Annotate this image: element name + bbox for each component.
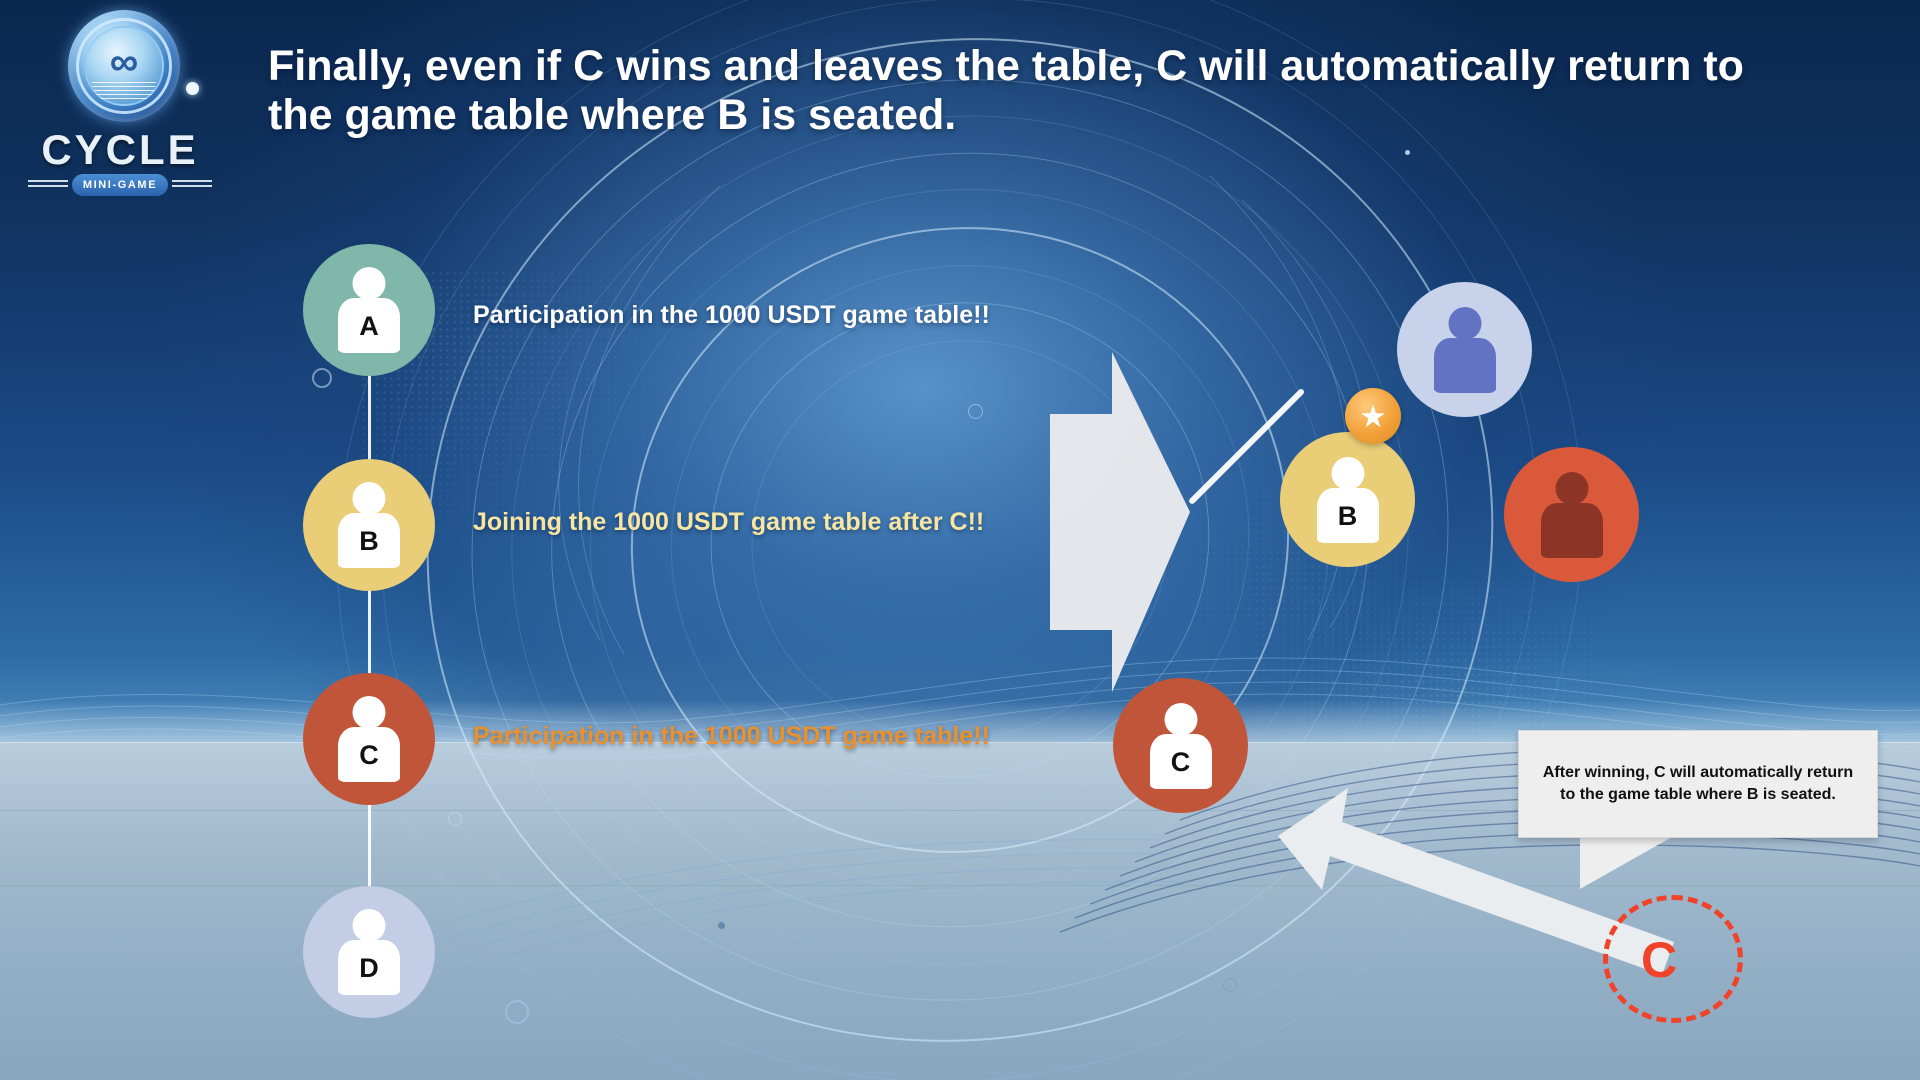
- row-label-b: Joining the 1000 USDT game table after C…: [473, 508, 984, 537]
- decor-ring-3: [505, 1000, 529, 1024]
- winner-star-badge: ★: [1345, 388, 1401, 444]
- player-c-letter: C: [1171, 749, 1191, 776]
- flow-right-arrow: [1050, 352, 1190, 692]
- decor-ring-5: [1223, 978, 1237, 992]
- logo-badge: MINI-GAME: [72, 174, 168, 196]
- seated-player-red[interactable]: [1504, 447, 1639, 582]
- decor-ring-1: [312, 368, 332, 388]
- callout-box: After winning, C will automatically retu…: [1518, 730, 1878, 838]
- dashed-marker-letter: C: [1641, 935, 1677, 985]
- avatar-d-letter: D: [359, 955, 379, 982]
- decor-ring-4: [968, 404, 983, 419]
- avatar-c[interactable]: C: [303, 673, 435, 805]
- callout-tail: [1580, 837, 1672, 889]
- star-icon: ★: [1359, 401, 1387, 432]
- seated-player-blue[interactable]: [1397, 282, 1532, 417]
- logo-tick-left: [28, 180, 68, 190]
- cycle-logo[interactable]: ∞ CYCLE MINI-GAME: [20, 8, 220, 188]
- logo-stripe-lines: [92, 82, 156, 102]
- avatar-a-letter: A: [359, 313, 379, 340]
- callout-text: After winning, C will automatically retu…: [1535, 762, 1861, 805]
- logo-satellite-dot: [186, 82, 199, 95]
- decor-ring-2: [448, 812, 462, 826]
- page-title: Finally, even if C wins and leaves the t…: [268, 42, 1788, 140]
- decor-dot-1: [718, 922, 725, 929]
- infinity-icon: ∞: [84, 38, 164, 86]
- avatar-a[interactable]: A: [303, 244, 435, 376]
- column-connector-line: [368, 300, 371, 960]
- logo-tick-right: [172, 180, 212, 190]
- avatar-c-letter: C: [359, 742, 379, 769]
- seated-b-letter: B: [1338, 503, 1358, 530]
- row-label-c: Participation in the 1000 USDT game tabl…: [473, 722, 990, 751]
- logo-wordmark: CYCLE: [20, 126, 220, 174]
- dashed-seat-marker: C: [1603, 895, 1743, 1023]
- row-label-a: Participation in the 1000 USDT game tabl…: [473, 301, 990, 330]
- player-c-returning[interactable]: C: [1113, 678, 1248, 813]
- slide-canvas: ∞ CYCLE MINI-GAME Finally, even if C win…: [0, 0, 1920, 1080]
- avatar-b-letter: B: [359, 528, 379, 555]
- avatar-d[interactable]: D: [303, 886, 435, 1018]
- avatar-b[interactable]: B: [303, 459, 435, 591]
- seated-player-b[interactable]: B: [1280, 432, 1415, 567]
- decor-dot-3: [1405, 150, 1410, 155]
